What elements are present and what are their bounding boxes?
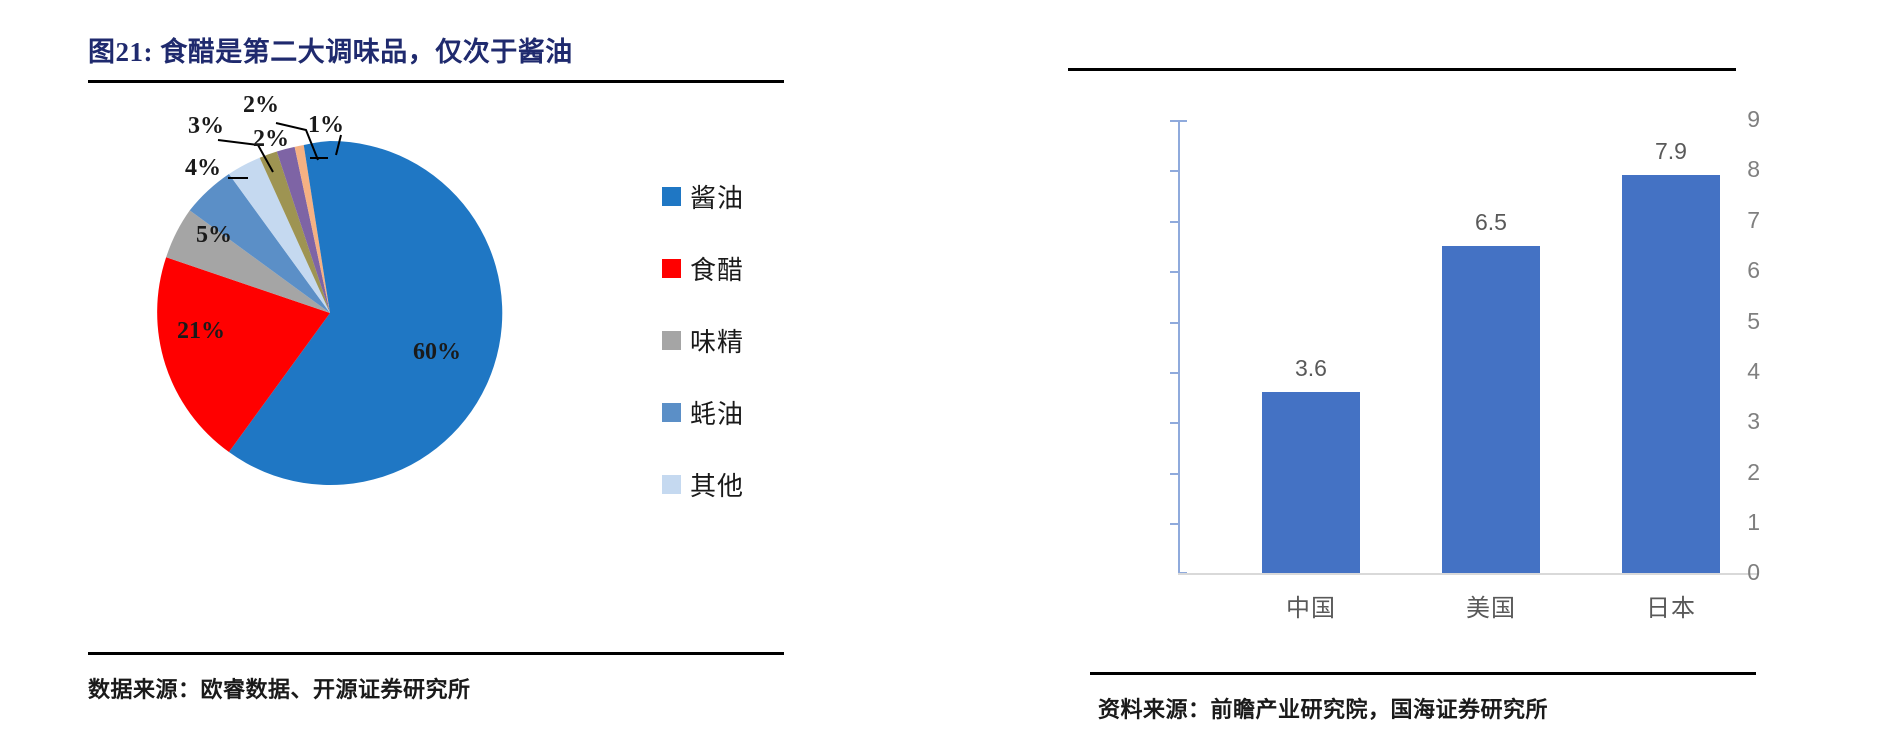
bar-column-japan: 7.9	[1596, 120, 1746, 573]
legend-label: 食醋	[690, 250, 744, 287]
x-tick-label-china: 中国	[1236, 588, 1386, 623]
pie-label-olive: 2%	[243, 92, 279, 119]
left-figure-panel: 图21: 食醋是第二大调味品，仅次于酱油	[0, 0, 880, 742]
pie-label-soy-sauce: 60%	[413, 339, 461, 366]
y-tick-5	[1170, 322, 1178, 324]
right-panel-bottom-rule	[1090, 672, 1756, 675]
y-tick-1	[1170, 523, 1178, 525]
legend-swatch-icon	[662, 331, 681, 350]
legend-swatch-icon	[662, 403, 681, 422]
legend-item-oyster-sauce[interactable]: 蚝油	[662, 376, 822, 448]
legend-item-vinegar[interactable]: 食醋	[662, 232, 822, 304]
bar-china[interactable]	[1262, 392, 1360, 573]
left-panel-bottom-rule	[88, 652, 784, 655]
pie-label-vinegar: 21%	[177, 318, 225, 345]
legend-item-other[interactable]: 其他	[662, 448, 822, 520]
pie-label-other: 3%	[188, 113, 224, 140]
y-tick-7	[1170, 221, 1178, 223]
page-title: 图21: 食醋是第二大调味品，仅次于酱油	[88, 30, 573, 69]
pie-label-msg: 5%	[196, 222, 232, 249]
y-tick-4	[1170, 372, 1178, 374]
bar-column-usa: 6.5	[1416, 120, 1566, 573]
bar-value-label: 6.5	[1416, 209, 1566, 236]
pie-label-purple: 2%	[253, 126, 289, 153]
x-tick-label-usa: 美国	[1416, 588, 1566, 623]
legend-item-soy-sauce[interactable]: 酱油	[662, 160, 822, 232]
y-tick-3	[1170, 422, 1178, 424]
left-panel-top-rule	[88, 80, 784, 83]
bar-value-label: 3.6	[1236, 355, 1386, 382]
x-axis-line	[1178, 573, 1758, 575]
y-tick-8	[1170, 170, 1178, 172]
y-axis-line	[1178, 120, 1180, 574]
legend-label: 味精	[690, 322, 744, 359]
left-panel-source: 数据来源：欧睿数据、开源证券研究所	[88, 672, 471, 704]
y-tick-2	[1170, 473, 1178, 475]
x-tick-label-japan: 日本	[1596, 588, 1746, 623]
pie-leader-lines	[88, 90, 608, 340]
right-panel-source: 资料来源：前瞻产业研究院，国海证券研究所	[1098, 692, 1548, 724]
bar-column-china: 3.6	[1236, 120, 1386, 573]
bar-chart: 9 8 7 6 5 4 3 2 1 0 3.6 中国	[1090, 110, 1760, 580]
right-figure-panel: 9 8 7 6 5 4 3 2 1 0 3.6 中国	[880, 0, 1900, 742]
bar-usa[interactable]	[1442, 246, 1540, 573]
y-tick-9	[1170, 120, 1178, 122]
legend-label: 蚝油	[690, 394, 744, 431]
bar-value-label: 7.9	[1596, 138, 1746, 165]
bar-japan[interactable]	[1622, 175, 1720, 573]
figure-page: 图21: 食醋是第二大调味品，仅次于酱油	[0, 0, 1900, 742]
y-axis-top-cap	[1178, 120, 1187, 122]
legend-swatch-icon	[662, 187, 681, 206]
right-panel-top-rule	[1068, 68, 1736, 71]
legend-swatch-icon	[662, 475, 681, 494]
legend-swatch-icon	[662, 259, 681, 278]
y-tick-6	[1170, 271, 1178, 273]
pie-label-oyster-sauce: 4%	[185, 155, 221, 182]
pie-label-peach: 1%	[308, 112, 344, 139]
pie-legend: 酱油 食醋 味精 蚝油 其他	[662, 160, 822, 520]
legend-label: 其他	[690, 466, 744, 503]
legend-label: 酱油	[690, 178, 744, 215]
legend-item-msg[interactable]: 味精	[662, 304, 822, 376]
